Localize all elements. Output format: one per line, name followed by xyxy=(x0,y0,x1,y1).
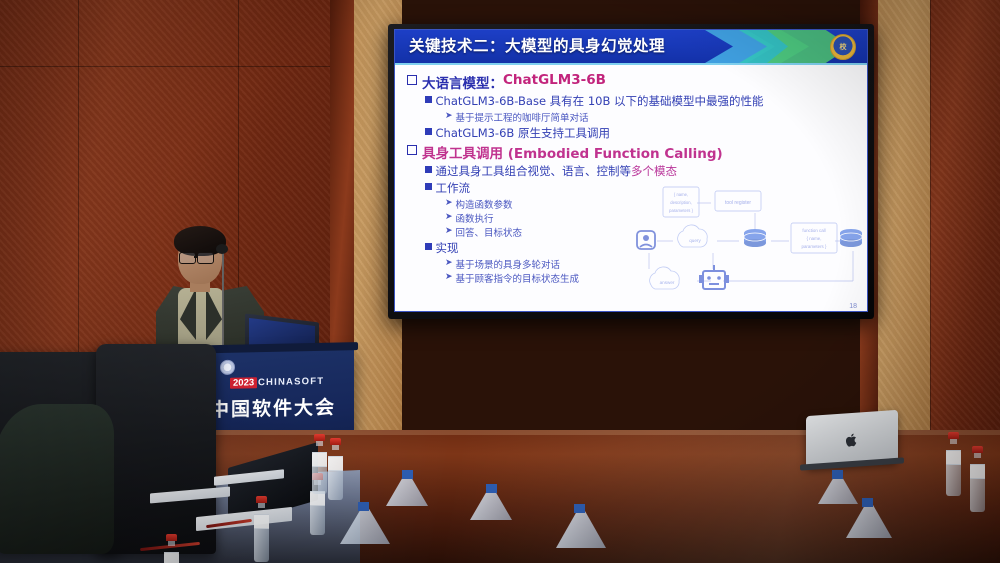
node-query-label: query xyxy=(689,238,701,243)
bottle-body xyxy=(164,552,179,563)
bullet-text: 函数执行 xyxy=(456,211,494,225)
podium-emblem-right-icon xyxy=(220,360,235,375)
podium-year: 2023 xyxy=(230,377,257,389)
bullet-l3-prompt-dialog: ➤ 基于提示工程的咖啡厅简单对话 xyxy=(445,110,857,124)
coat-on-chair xyxy=(0,404,114,554)
square-open-icon xyxy=(407,75,417,85)
bullet-text: 通过具身工具组合视觉、语言、控制等 xyxy=(436,163,632,179)
node-query-cloud xyxy=(678,225,708,247)
bullet-text: 实现 xyxy=(436,240,459,256)
nameplate-tab xyxy=(832,470,843,479)
bottle-cap xyxy=(972,446,983,453)
bullet-accent: ChatGLM3-6B xyxy=(503,72,606,88)
bullet-l1-llm: 大语言模型： ChatGLM3-6B xyxy=(407,72,857,92)
bullet-text: 基于提示工程的咖啡厅简单对话 xyxy=(456,110,589,124)
bottle-body xyxy=(254,514,269,562)
node-tool-schema-label-3: parameters } xyxy=(669,208,693,213)
bottle-label xyxy=(254,514,269,529)
bottle-cap xyxy=(166,534,177,541)
bullet-l2-native-tool: ChatGLM3-6B 原生支持工具调用 xyxy=(425,125,857,141)
node-answer-label: answer xyxy=(660,280,675,285)
arrow-bullet-icon: ➤ xyxy=(445,258,453,268)
podium-brand-latin: CHINASOFT xyxy=(258,376,324,388)
arrow-bullet-icon: ➤ xyxy=(445,212,453,222)
bottle-neck xyxy=(974,453,981,458)
water-bottle xyxy=(312,434,327,494)
node-robot-icon xyxy=(699,265,729,289)
water-bottle xyxy=(254,496,269,562)
bottle-label xyxy=(328,456,343,471)
node-answer-cloud xyxy=(650,267,680,289)
bottle-body xyxy=(310,491,325,535)
node-tool-schema-label-1: { name, xyxy=(674,192,688,197)
user-head-icon xyxy=(643,235,649,241)
wall-seam-vertical-c xyxy=(930,0,931,430)
bottle-cap xyxy=(256,496,267,503)
wall-seam-horizontal xyxy=(0,66,360,67)
slide-canvas: 关键技术二：大模型的具身幻觉处理 校 大语言模型： ChatGLM3-6B Ch… xyxy=(394,29,868,312)
bullet-text: 构造函数参数 xyxy=(456,197,513,211)
bottle-body xyxy=(328,456,343,500)
bullet-l1-embodied-fc: 具身工具调用 (Embodied Function Calling) xyxy=(407,142,857,162)
square-filled-icon xyxy=(425,166,432,173)
podium-brand-chinese: 中国软件大会 xyxy=(210,393,336,423)
university-seal-icon: 校 xyxy=(830,34,856,60)
water-bottle xyxy=(946,432,961,496)
square-filled-icon xyxy=(425,96,432,103)
node-tool-register-label: tool register xyxy=(725,200,751,206)
bottle-cap xyxy=(948,432,959,439)
slide-content: 大语言模型： ChatGLM3-6B ChatGLM3-6B-Base 具有在 … xyxy=(395,65,867,312)
bullet-accent: 具身工具调用 (Embodied Function Calling) xyxy=(422,142,723,162)
bullet-text: 回答、目标状态 xyxy=(456,225,523,239)
bottle-body xyxy=(946,450,961,496)
slide-title-bar: 关键技术二：大模型的具身幻觉处理 校 xyxy=(395,30,867,65)
node-function-call-label-2: { name, xyxy=(807,236,822,241)
presentation-display: 关键技术二：大模型的具身幻觉处理 校 大语言模型： ChatGLM3-6B Ch… xyxy=(388,24,874,319)
glasses-lens-right-icon xyxy=(197,252,214,264)
bottle-neck xyxy=(316,441,323,446)
arrow-bullet-icon: ➤ xyxy=(445,226,453,236)
nameplate-tab xyxy=(574,504,585,513)
node-database-2 xyxy=(840,229,862,247)
water-bottle xyxy=(970,446,985,512)
bottle-cap xyxy=(314,434,325,441)
bottle-neck xyxy=(258,503,265,508)
function-calling-flow-diagram: { name, description, parameters } tool r… xyxy=(635,185,863,297)
bullet-text: 基于场景的具身多轮对话 xyxy=(456,257,561,271)
bottle-body xyxy=(970,464,985,512)
bottle-label xyxy=(946,450,961,465)
slide-page-number: 18 xyxy=(849,303,857,310)
bottle-label xyxy=(164,552,179,563)
nameplate-tab xyxy=(402,470,413,479)
bottle-cap xyxy=(330,438,341,445)
water-bottle xyxy=(164,534,179,563)
glasses-bridge-icon xyxy=(194,256,198,258)
microphone-head-icon xyxy=(216,244,228,254)
node-function-call-label-3: parameters } xyxy=(802,244,827,249)
bullet-text: ChatGLM3-6B 原生支持工具调用 xyxy=(436,125,610,141)
bullet-text: ChatGLM3-6B-Base 具有在 10B 以下的基础模型中最强的性能 xyxy=(436,93,764,109)
bullet-accent: 多个模态 xyxy=(631,163,677,179)
bottle-neck xyxy=(950,439,957,444)
square-filled-icon xyxy=(425,128,432,135)
bullet-text: 工作流 xyxy=(436,180,471,196)
microphone-stand xyxy=(222,250,224,350)
bullet-text: 大语言模型： xyxy=(422,72,503,92)
nameplate-tab xyxy=(486,484,497,493)
bullet-text: 基于顾客指令的目标状态生成 xyxy=(456,271,580,285)
square-filled-icon xyxy=(425,183,432,190)
water-bottle xyxy=(328,438,343,500)
bullet-l2-multimodal: 通过具身工具组合视觉、语言、控制等 多个模态 xyxy=(425,163,857,179)
slide-title: 关键技术二：大模型的具身幻觉处理 xyxy=(409,34,665,56)
bottle-neck xyxy=(168,541,175,546)
nameplate-tab xyxy=(862,498,873,507)
nameplate-tab xyxy=(358,502,369,511)
bottle-body xyxy=(312,452,327,494)
glasses-lens-left-icon xyxy=(179,252,196,264)
bottle-label xyxy=(312,452,327,467)
node-database-1 xyxy=(744,229,766,247)
apple-logo-icon xyxy=(845,432,859,449)
bullet-l2-base-perf: ChatGLM3-6B-Base 具有在 10B 以下的基础模型中最强的性能 xyxy=(425,93,857,109)
arrow-bullet-icon: ➤ xyxy=(445,111,453,121)
arrow-bullet-icon: ➤ xyxy=(445,198,453,208)
bottle-label xyxy=(970,464,985,479)
node-tool-schema-label-2: description, xyxy=(670,200,691,205)
square-filled-icon xyxy=(425,243,432,250)
conference-room-photo: 关键技术二：大模型的具身幻觉处理 校 大语言模型： ChatGLM3-6B Ch… xyxy=(0,0,1000,563)
user-body-icon xyxy=(640,245,652,248)
arrow-bullet-icon: ➤ xyxy=(445,272,453,282)
square-open-icon xyxy=(407,145,417,155)
bottle-neck xyxy=(332,445,339,450)
node-function-call-label-1: function call xyxy=(802,228,825,233)
